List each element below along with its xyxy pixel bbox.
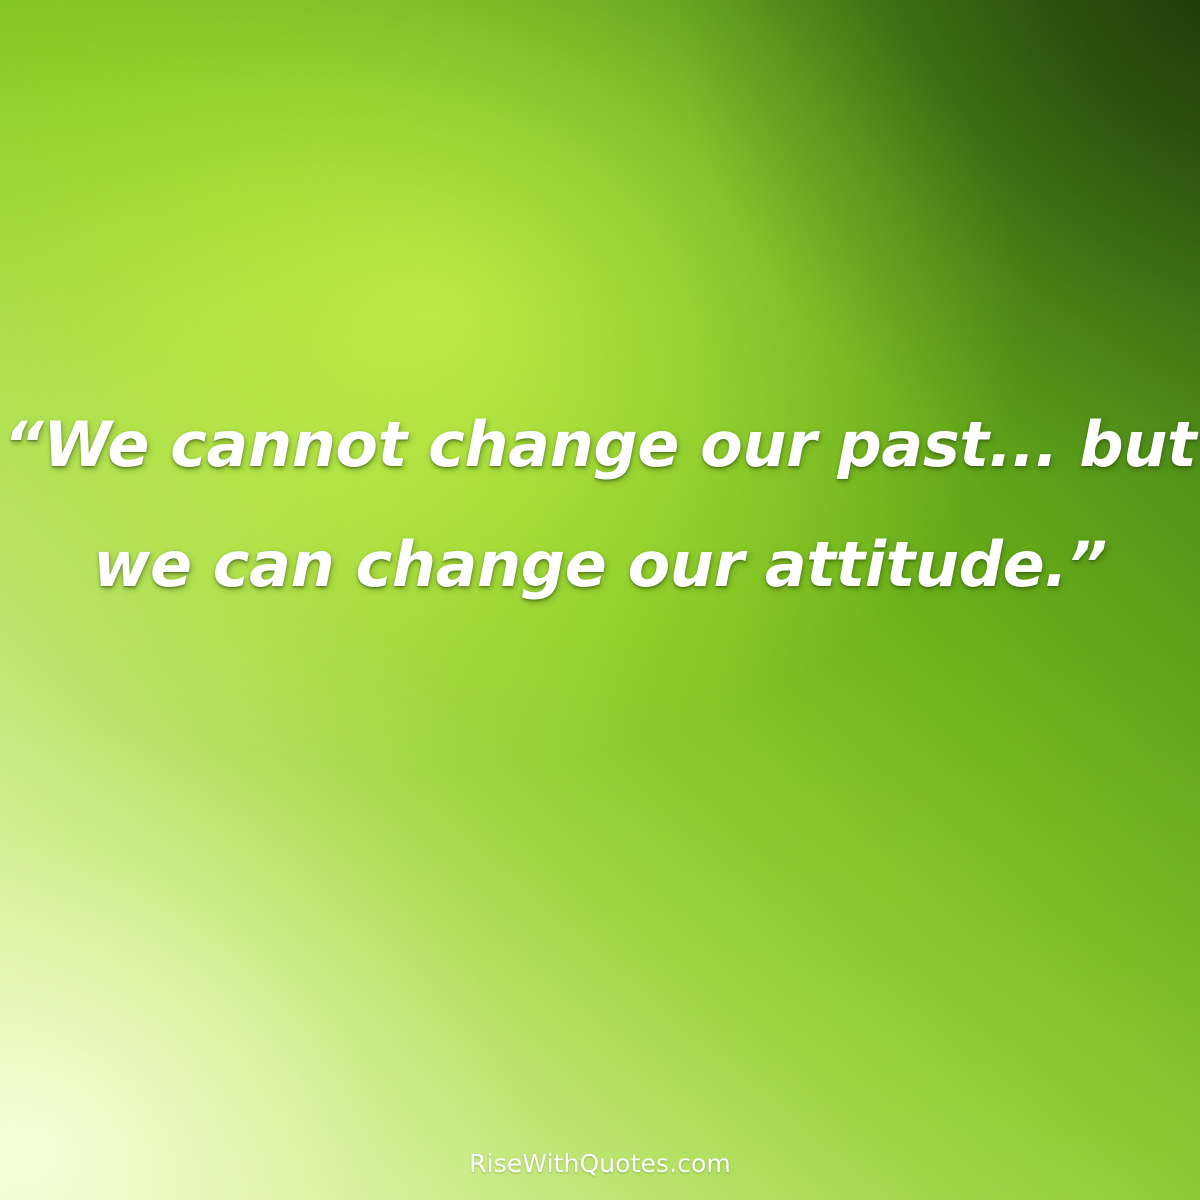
quote-line-2: we can change our attitude.” <box>0 505 1200 625</box>
site-credit-watermark: RiseWithQuotes.com <box>469 1149 731 1178</box>
quote-line-1: “We cannot change our past... but <box>0 385 1200 505</box>
footer: RiseWithQuotes.com <box>0 1149 1200 1178</box>
quote-text-block: “We cannot change our past... but we can… <box>0 385 1200 625</box>
quote-card: “We cannot change our past... but we can… <box>0 0 1200 1200</box>
